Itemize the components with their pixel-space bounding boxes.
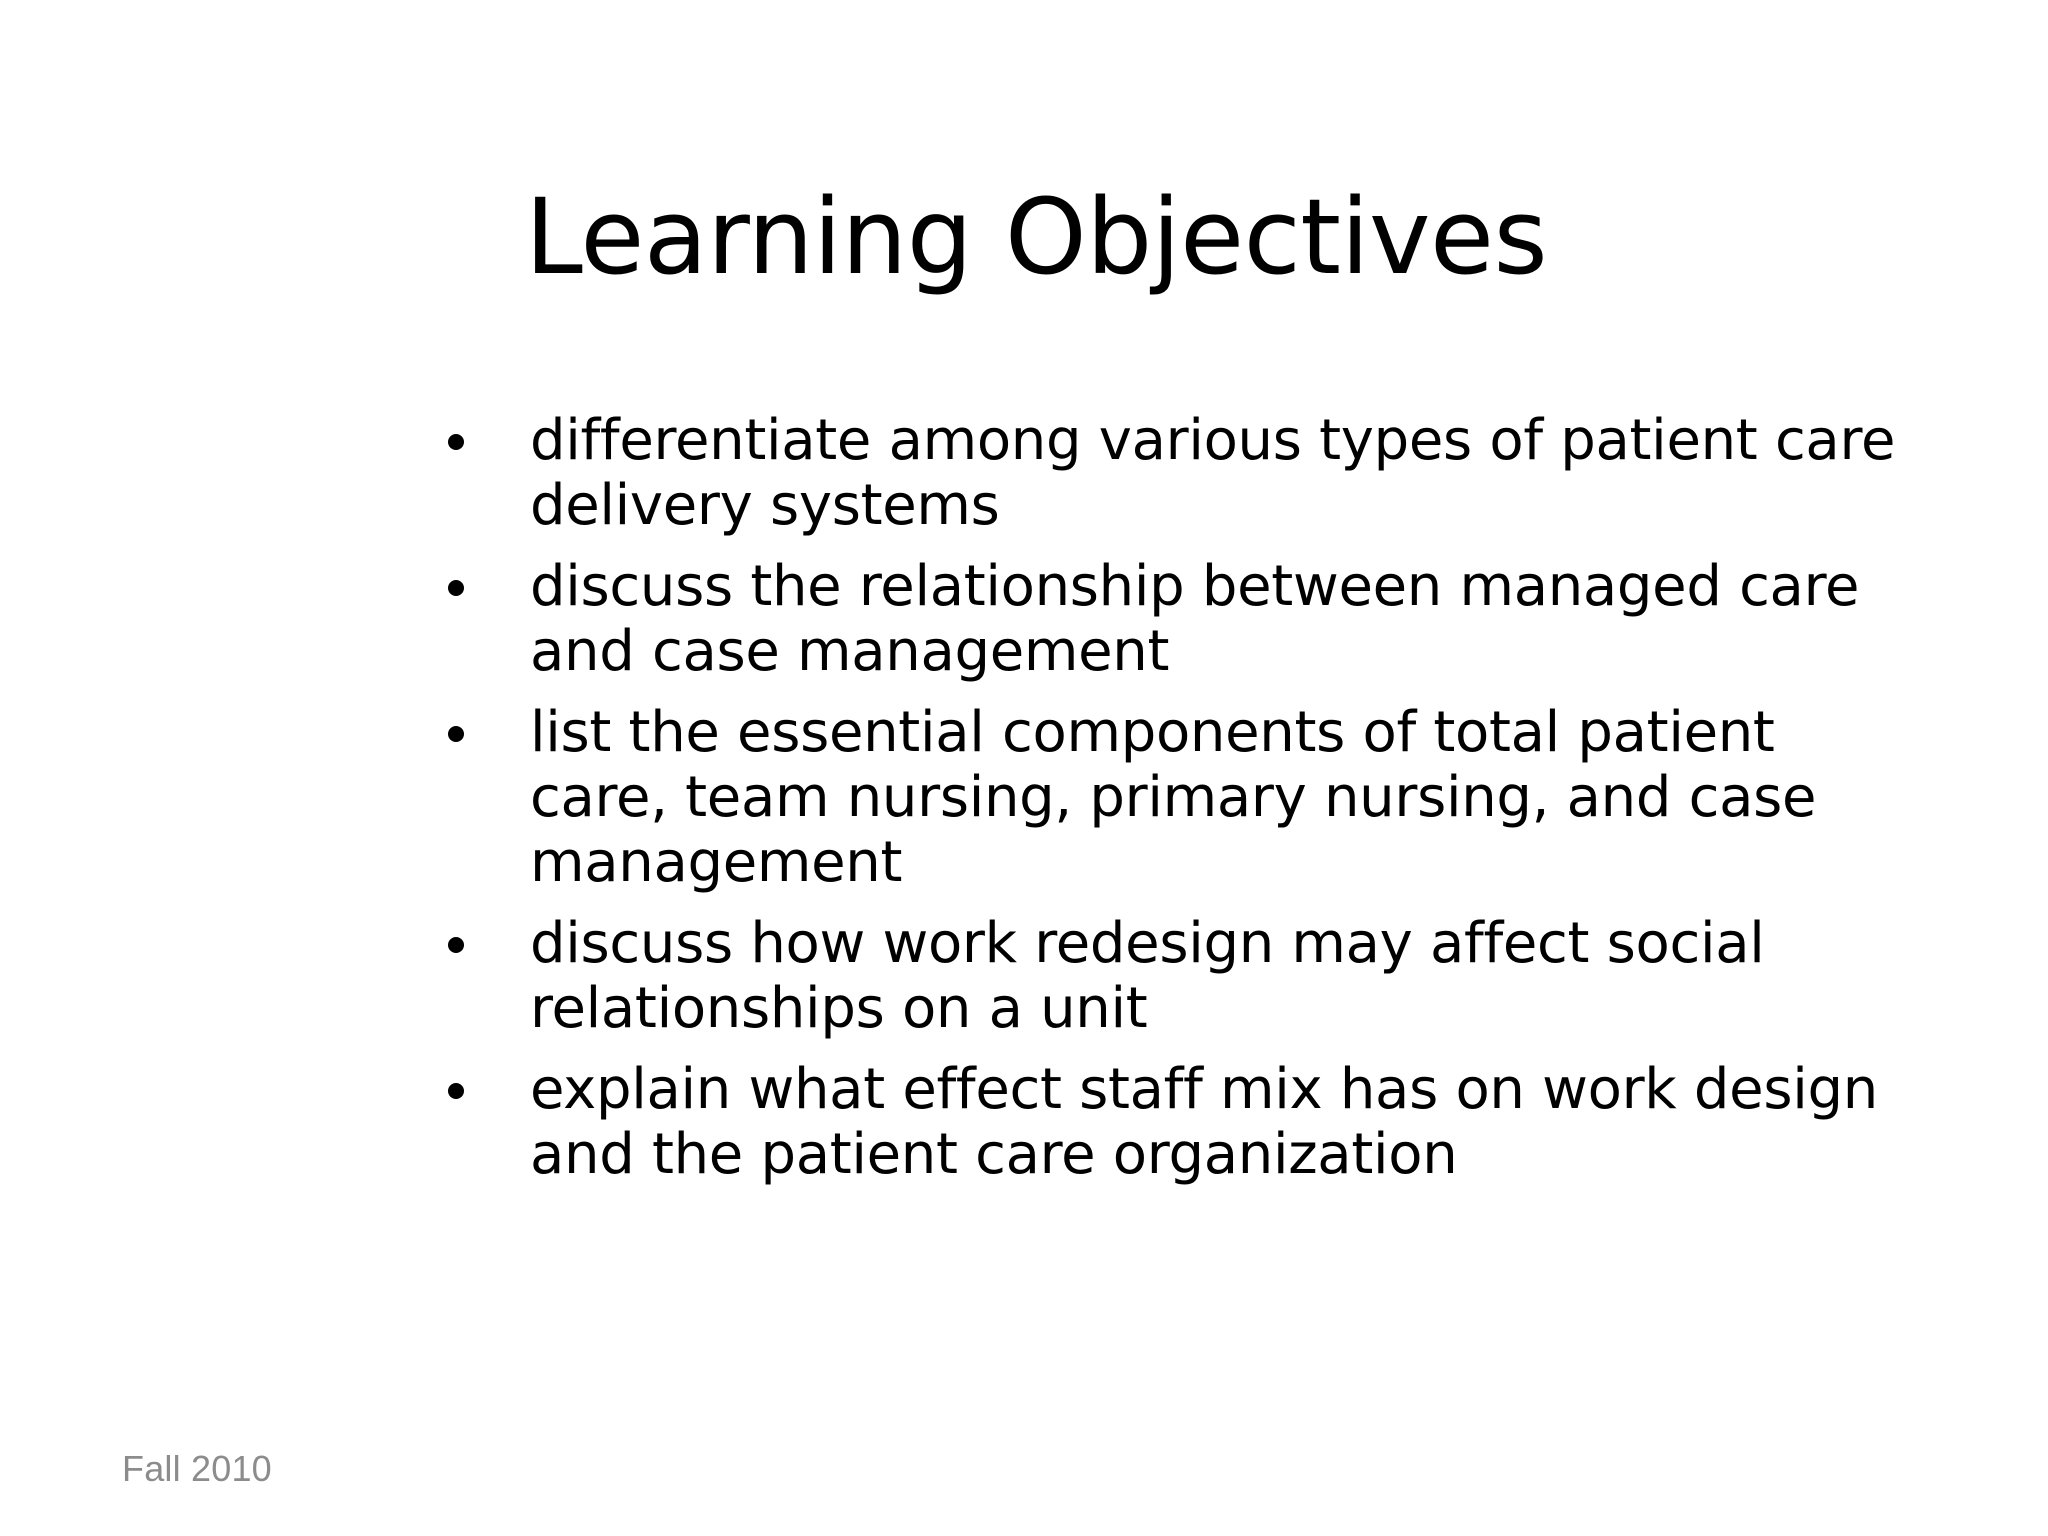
bullet-dot-icon (448, 937, 464, 953)
list-item-label: explain what effect staff mix has on wor… (530, 1057, 1900, 1187)
page-title: Learning Objectives (0, 178, 2048, 296)
learning-objectives-list: differentiate among various types of pat… (430, 408, 1900, 1187)
bullet-dot-icon (448, 726, 464, 742)
list-item: explain what effect staff mix has on wor… (430, 1057, 1900, 1187)
bullet-dot-icon (448, 434, 464, 450)
slide-footer-date: Fall 2010 (122, 1448, 272, 1490)
list-item-label: discuss how work redesign may affect soc… (530, 911, 1900, 1041)
bullet-dot-icon (448, 1083, 464, 1099)
list-item: discuss the relationship between managed… (430, 554, 1900, 684)
slide-canvas: Learning Objectives differentiate among … (0, 0, 2048, 1536)
list-item-label: differentiate among various types of pat… (530, 408, 1900, 538)
bullet-dot-icon (448, 580, 464, 596)
list-item: list the essential components of total p… (430, 700, 1900, 895)
list-item-label: list the essential components of total p… (530, 700, 1900, 895)
list-item: discuss how work redesign may affect soc… (430, 911, 1900, 1041)
page-title-text: Learning Objectives (525, 178, 1547, 296)
list-item: differentiate among various types of pat… (430, 408, 1900, 538)
list-item-label: discuss the relationship between managed… (530, 554, 1900, 684)
